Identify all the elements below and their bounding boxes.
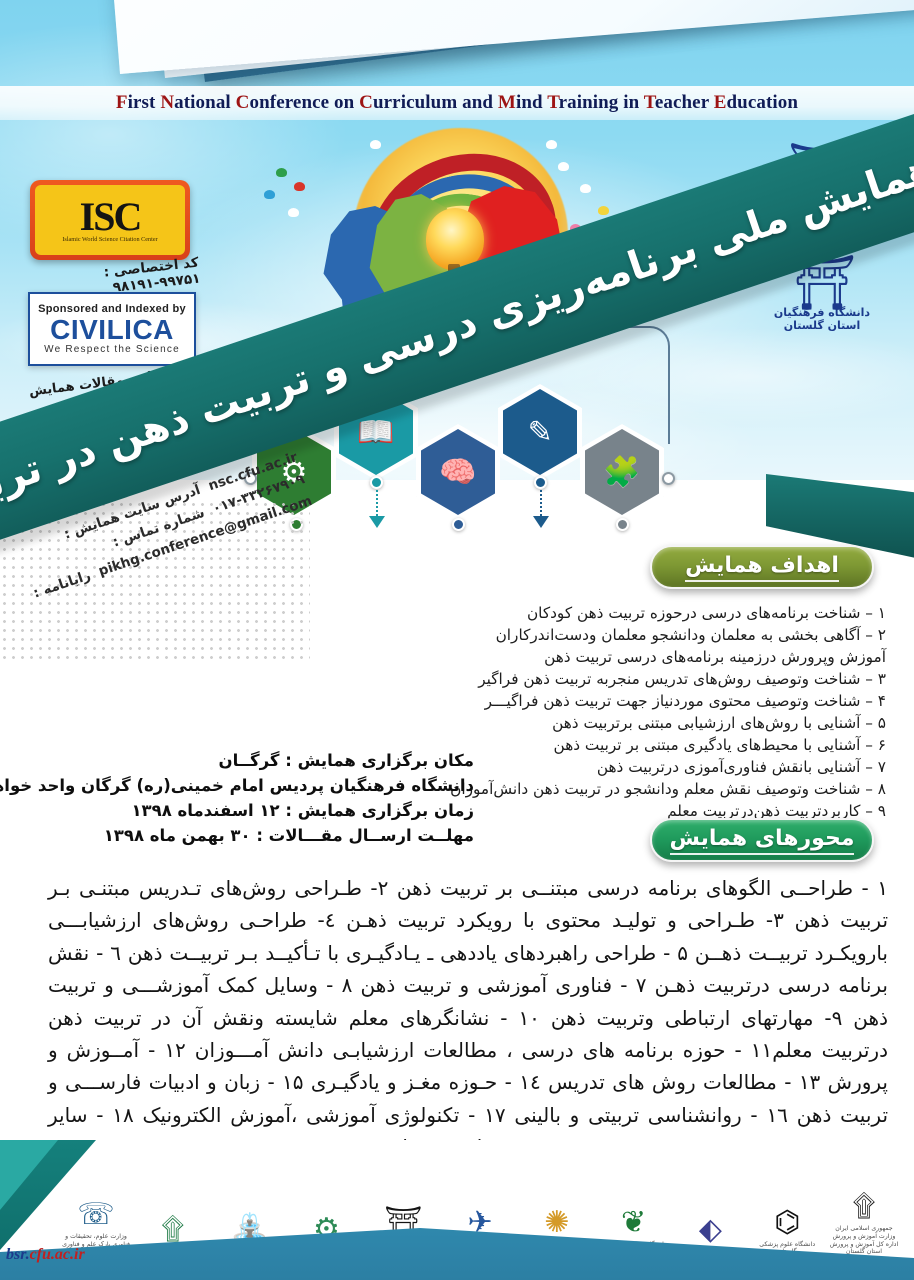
farhangian-golestan-label: دانشگاه فرهنگیان [772,306,872,319]
dotted-connector [540,490,542,516]
footer-url[interactable]: bsr.cfu.ac.ir [6,1246,85,1264]
footer-url-prefix: bsr. [6,1246,30,1263]
civilica-brand: CIVILICA [50,315,174,344]
english-title-segment-1: irst [128,92,161,113]
goals-heading-label: اهداف همایش [685,553,839,582]
butterfly-icon [264,190,275,199]
sponsor-logo-ministry-of-education-golestan: ۩جمهوری اسلامی ایران وزارت آموزش و پرورش… [828,1192,900,1256]
goal-item: آموزش وپرورش درزمینه برنامه‌های درسی ترب… [326,646,886,668]
english-title-segment-3: ational [174,92,236,113]
goal-item: ۵ – آشنایی با روش‌های ارزشیابی مبتنی برت… [326,712,886,734]
node-dot [452,518,465,531]
civilica-logo: Sponsored and Indexed by CIVILICA We Res… [28,292,196,366]
english-title-segment-8: M [498,92,516,113]
hex-cell-doodle-head: ✎ [498,384,582,480]
english-title-segment-2: N [160,92,174,113]
butterfly-icon [598,206,609,215]
butterfly-icon [580,184,591,193]
node-dot [370,476,383,489]
english-title-segment-0: F [116,92,128,113]
farhangian-golestan-province-label: استان گلستان [772,319,872,332]
english-title-segment-12: T [644,92,655,113]
civilica-top-line: Sponsored and Indexed by [38,303,186,315]
isc-logo-subtitle: Islamic World Science Citation Center [62,236,157,243]
footer-url-suffix: cfu.ac.ir [30,1246,85,1263]
topics-heading-label: محورهای همایش [670,826,855,855]
butterfly-icon [546,140,557,149]
topics-text: ۱ - طراحــی الگوهای برنامه درسی مبتنــی … [48,872,888,1164]
submission-deadline: مهلــت ارســال مقـــالات : ۳۰ بهمن ماه ۱… [22,823,474,848]
butterfly-icon [558,162,569,171]
english-title-segment-6: C [359,92,373,113]
dotted-connector [376,490,378,516]
venue-place: مکان برگزاری همایش : گرگــان [22,748,474,773]
english-title-segment-15: ducation [727,92,799,113]
isc-logo-text: ISC [80,198,141,236]
butterfly-icon [276,168,287,177]
goal-item: ۲ – آگاهی بخشی به معلمان ودانشجو معلمان … [326,624,886,646]
english-title-bar: First National Conference on Curriculum … [0,86,914,120]
english-title-segment-4: C [236,92,250,113]
conference-poster: First National Conference on Curriculum … [0,0,914,1280]
sponsor-logo-strip: ۩جمهوری اسلامی ایران وزارت آموزش و پرورش… [0,1140,914,1280]
goals-heading-pill: اهداف همایش [650,545,874,589]
arrow-marker [533,516,549,528]
english-title-segment-11: raining in [559,92,644,113]
golestan-university-of-medical-sciences-icon: ⌬ [751,1208,823,1238]
arrow-marker [369,516,385,528]
ministry-of-science-research-technology-icon: ☏ [60,1200,132,1230]
english-title-segment-5: onference on [250,92,360,113]
node-dot [534,476,547,489]
hex-cell-brain-network: 🧠 [416,424,500,520]
payame-noor-university-golestan-icon: ✺ [521,1208,593,1238]
topics-heading-pill: محورهای همایش [650,818,874,862]
butterfly-icon [288,208,299,217]
venue-date: زمان برگزاری همایش : ۱۲ اسفندماه ۱۳۹۸ [22,798,474,823]
butterfly-icon [294,182,305,191]
goal-item: ۱ – شناخت برنامه‌های درسی درحوزه تربیت ذ… [326,602,886,624]
english-title-segment-9: ind [516,92,547,113]
sponsor-logo-caption: جمهوری اسلامی ایران وزارت آموزش و پرورش … [828,1225,900,1256]
goal-item: ۴ – شناخت وتوصیف محتوی موردنیاز جهت تربی… [326,690,886,712]
civilica-bottom-line: We Respect the Science [44,344,180,355]
goal-item: ۳ – شناخت وتوصیف روش‌های تدریس منجربه تر… [326,668,886,690]
hex-cell-puzzle-head: 🧩 [580,424,664,520]
golestan-university-icon: ⬖ [674,1215,746,1245]
isc-logo: ISC Islamic World Science Citation Cente… [30,180,190,260]
sponsor-logo-golestan-university-of-medical-sciences: ⌬دانشگاه علوم پزشکی گلستان [751,1208,823,1257]
english-title-segment-14: E [714,92,727,113]
venue-block: مکان برگزاری همایش : گرگــان دانشگاه فره… [22,748,474,848]
english-title-segment-7: urriculum and [373,92,498,113]
venue-detail: دانشگاه فرهنگیان پردیس امام خمینی(ره) گر… [22,773,474,798]
node-dot [662,472,675,485]
english-title-segment-13: eacher [655,92,714,113]
butterfly-icon [370,140,381,149]
node-dot [616,518,629,531]
english-conference-title: First National Conference on Curriculum … [116,92,798,114]
ministry-of-education-golestan-icon: ۩ [828,1192,900,1222]
gonbad-agricultural-sciences-university-icon: ❦ [598,1208,670,1238]
english-title-segment-10: T [547,92,558,113]
